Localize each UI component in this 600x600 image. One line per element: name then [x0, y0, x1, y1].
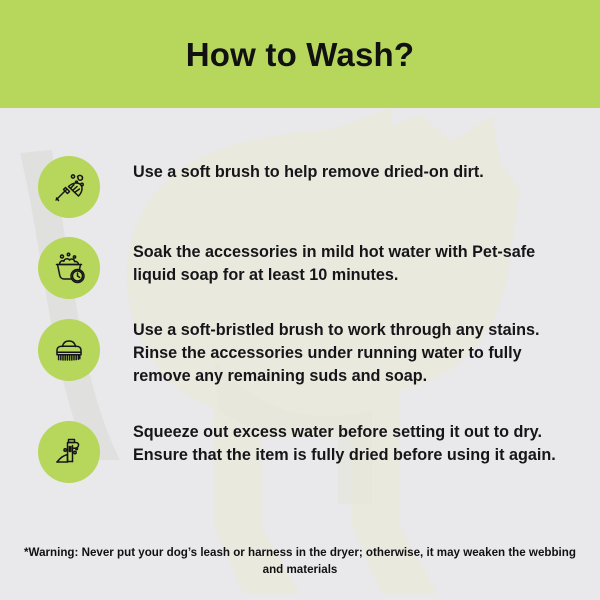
how-to-wash-infographic: How to Wash? [0, 0, 600, 600]
step-item: Squeeze out excess water before setting … [38, 421, 561, 483]
scrub-brush-icon [38, 319, 100, 381]
step-item: Soak the accessories in mild hot water w… [38, 237, 561, 299]
duster-brush-icon [38, 156, 100, 218]
step-text: Use a soft brush to help remove dried-on… [133, 156, 561, 184]
step-item: Use a soft brush to help remove dried-on… [38, 156, 561, 218]
step-item: Use a soft-bristled brush to work throug… [38, 319, 561, 388]
warning-note: *Warning: Never put your dog’s leash or … [0, 544, 600, 579]
step-text: Squeeze out excess water before setting … [133, 421, 561, 467]
squeeze-spray-bottle-icon [38, 421, 100, 483]
page-title: How to Wash? [186, 38, 415, 71]
wash-tub-timer-icon [38, 237, 100, 299]
step-text: Use a soft-bristled brush to work throug… [133, 319, 561, 388]
header-banner: How to Wash? [0, 0, 600, 108]
step-text: Soak the accessories in mild hot water w… [133, 237, 561, 287]
